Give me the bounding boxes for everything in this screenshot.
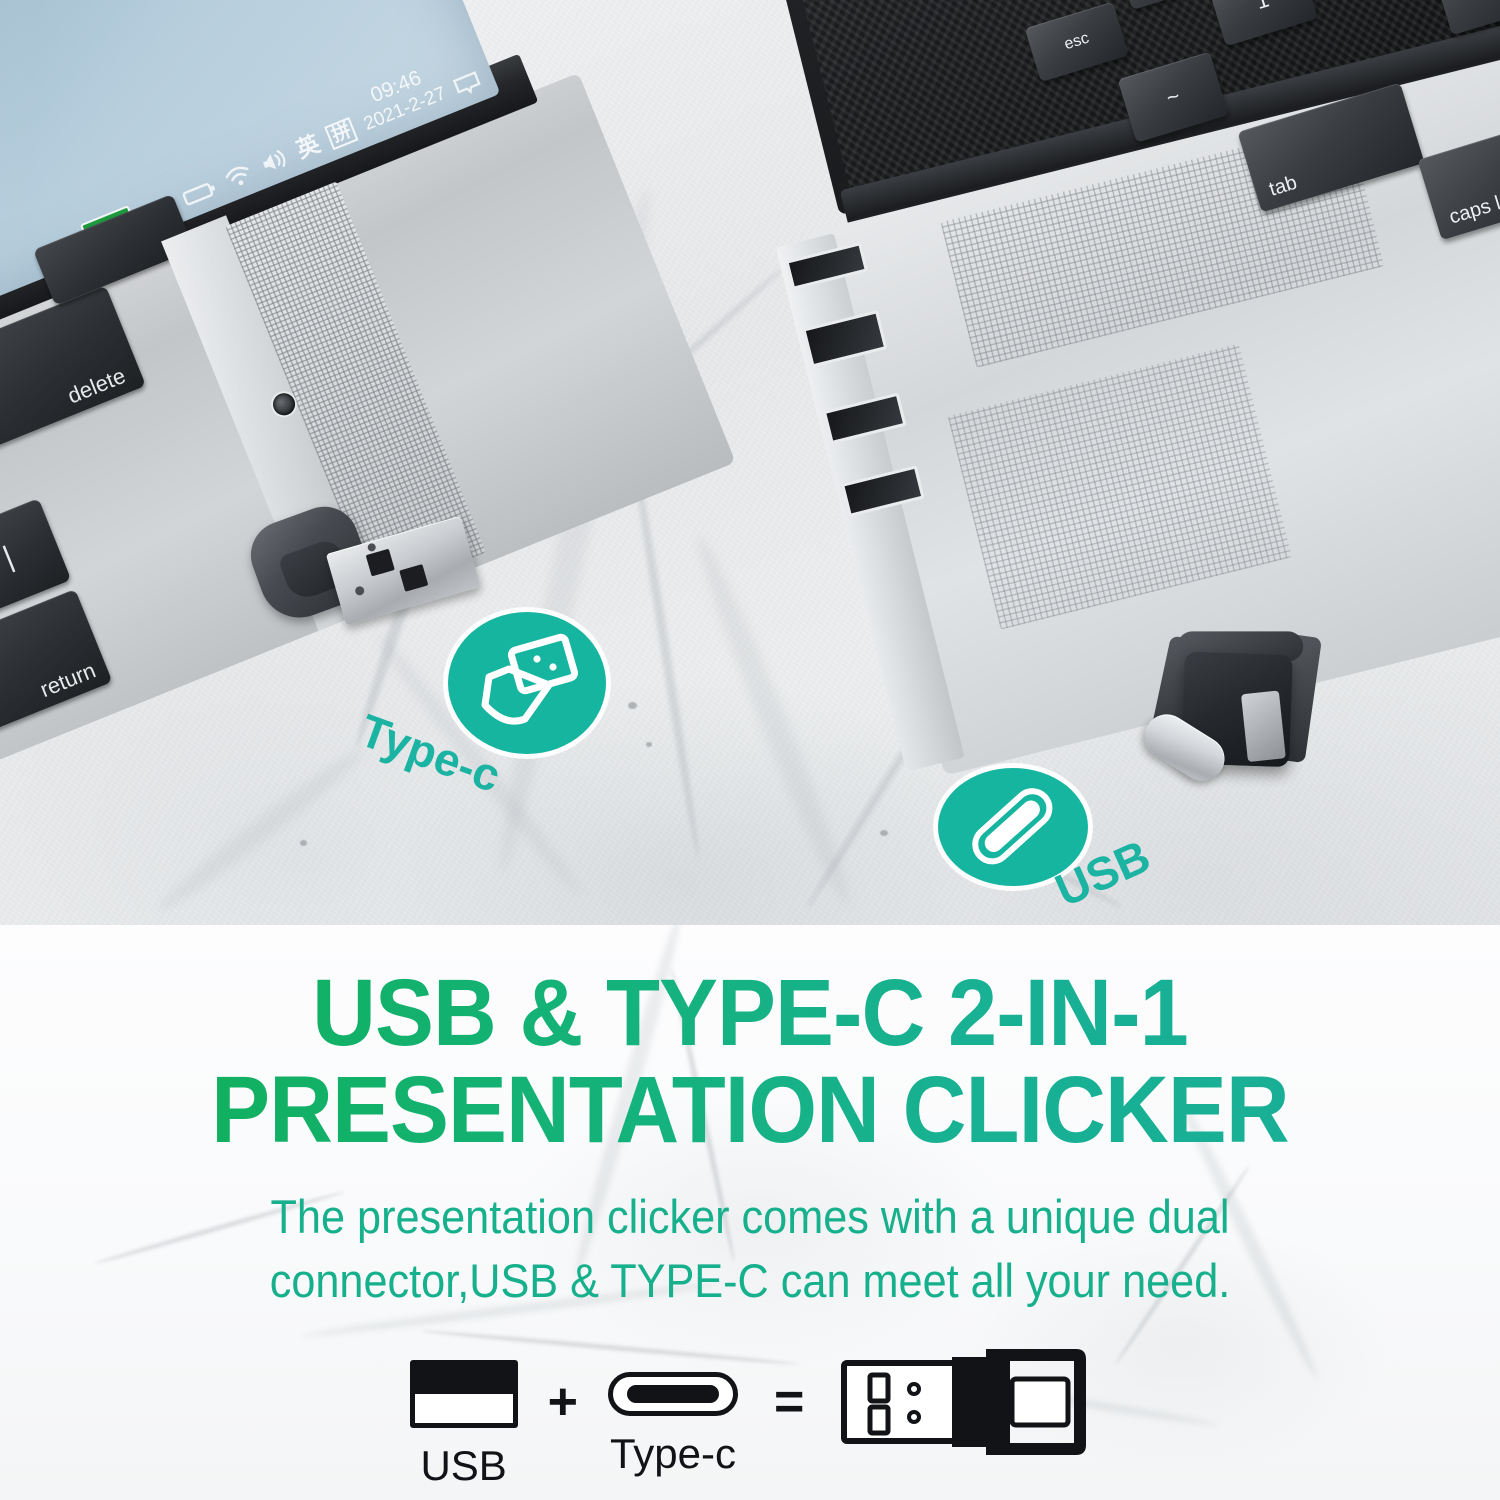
equals-operator: = xyxy=(774,1372,804,1432)
type-c-badge xyxy=(448,612,606,754)
headline-line-2: PRESENTATION CLICKER xyxy=(169,1062,1332,1159)
ime-pinyin-indicator[interactable]: 拼 xyxy=(324,117,358,150)
key-caps-lock-label: caps lo xyxy=(1447,190,1500,229)
clock-time: 09:46 xyxy=(351,60,441,115)
ime-english-indicator[interactable]: 英 xyxy=(294,133,324,163)
product-marketing-image: 92% 英 拼 xyxy=(0,0,1500,1500)
page-subtitle: The presentation clicker comes with a un… xyxy=(230,1185,1270,1313)
page-headline: USB & TYPE-C 2-IN-1 PRESENTATION CLICKER xyxy=(169,965,1332,1159)
key-tilde-label: ~ xyxy=(1164,84,1183,110)
marble-speck xyxy=(300,840,307,846)
type-c-inner-bar xyxy=(627,1385,719,1403)
dongle-right-slot xyxy=(1241,690,1286,762)
key-tab-label: tab xyxy=(1267,173,1300,201)
dongle-usb-plugged xyxy=(1136,624,1374,852)
usb-drive-icon xyxy=(475,633,579,733)
usb-connector-icon xyxy=(410,1360,518,1428)
usb-icon-group: USB xyxy=(410,1360,518,1490)
usb-contact-slot xyxy=(399,564,428,592)
battery-icon[interactable] xyxy=(181,178,220,209)
marble-speck xyxy=(880,830,888,836)
key-esc-label: esc xyxy=(1063,30,1092,53)
type-c-connector-icon xyxy=(961,781,1065,873)
wifi-icon[interactable] xyxy=(221,159,256,192)
marketing-text-panel: USB & TYPE-C 2-IN-1 PRESENTATION CLICKER… xyxy=(0,925,1500,1500)
marble-speck xyxy=(646,742,652,747)
product-photo: 92% 英 拼 xyxy=(0,0,1500,925)
usb-pinhole xyxy=(354,585,365,596)
headline-line-1: USB & TYPE-C 2-IN-1 xyxy=(312,960,1188,1066)
dual-connector-dongle-icon xyxy=(840,1347,1090,1457)
plus-operator: + xyxy=(548,1372,578,1432)
speaker-icon[interactable] xyxy=(257,145,292,178)
typec-icon-group: Type-c xyxy=(608,1372,738,1478)
connector-equation-row: USB + Type-c = xyxy=(370,1347,1130,1500)
usb-pinhole xyxy=(367,542,377,552)
key-1-label: 1 xyxy=(1253,0,1271,14)
notification-icon[interactable] xyxy=(451,69,483,99)
typec-icon-label: Type-c xyxy=(610,1430,736,1478)
usb-icon-label: USB xyxy=(420,1442,506,1490)
type-c-connector-outline-icon xyxy=(608,1372,738,1416)
marble-speck xyxy=(628,702,637,709)
usb-contact-slot xyxy=(366,549,395,577)
